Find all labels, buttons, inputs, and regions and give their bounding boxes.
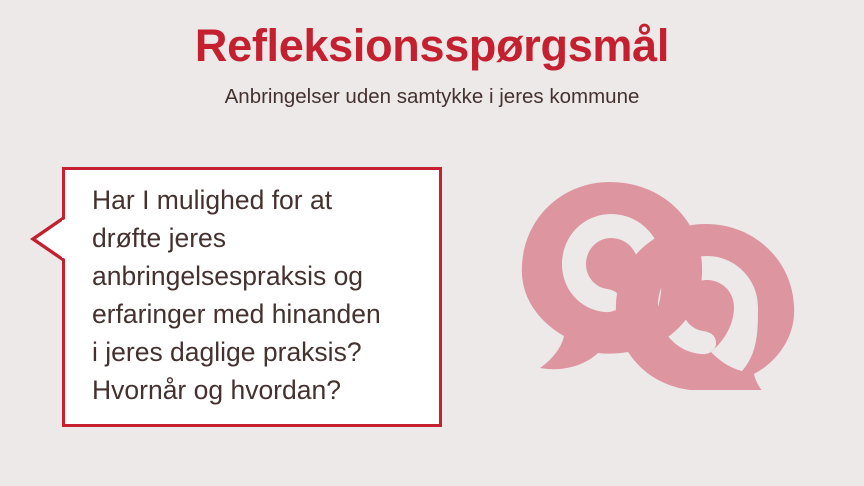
slide-header: Refleksionsspørgsmål Anbringelser uden s… xyxy=(0,0,864,109)
callout-tail-fill xyxy=(36,219,65,259)
two-speech-bubbles-icon xyxy=(510,170,820,390)
page-title: Refleksionsspørgsmål xyxy=(0,22,864,71)
slide-canvas: Refleksionsspørgsmål Anbringelser uden s… xyxy=(0,0,864,486)
page-subtitle: Anbringelser uden samtykke i jeres kommu… xyxy=(0,71,864,110)
speech-bubble-left-shape xyxy=(522,182,702,369)
speech-bubble-right-shape xyxy=(616,224,794,390)
reflection-question-callout: Har I mulighed for at drøfte jeres anbri… xyxy=(62,167,442,427)
callout-text: Har I mulighed for at drøfte jeres anbri… xyxy=(92,181,432,409)
callout-tail-joint xyxy=(62,220,65,258)
